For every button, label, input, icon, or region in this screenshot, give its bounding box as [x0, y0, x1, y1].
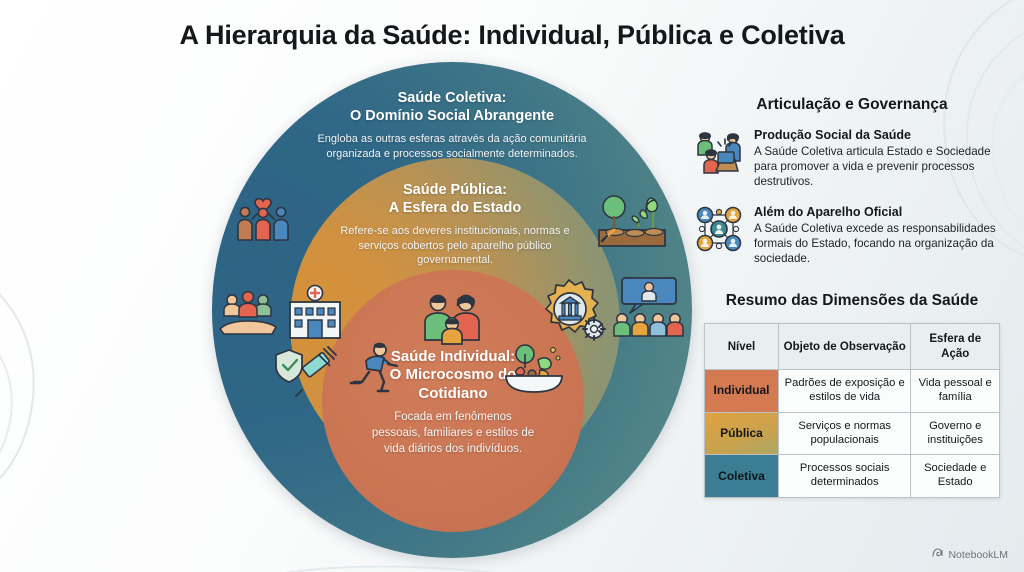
row-object-coletiva: Processos sociais determinados	[779, 455, 911, 498]
hand-holding-people-icon	[218, 284, 280, 345]
network-of-people-icon	[694, 204, 744, 254]
column-header-esfera: Esfera de Ação	[911, 324, 1000, 370]
ring-individual-title-line2: O Microcosmo do Cotidiano	[390, 366, 517, 401]
row-sphere-individual: Vida pessoal e família	[911, 369, 1000, 412]
governance-item-description: A Saúde Coletiva excede as responsabilid…	[754, 221, 1010, 266]
ring-public-description: Refere-se aos deveres institucionais, no…	[320, 224, 590, 267]
family-icon	[417, 290, 487, 357]
row-sphere-coletiva: Sociedade e Estado	[911, 455, 1000, 498]
ring-public-title-line1: Saúde Pública:	[403, 182, 507, 198]
ring-public-title-line2: A Esfera do Estado	[389, 200, 521, 216]
table-header-row: Nível Objeto de Observação Esfera de Açã…	[705, 324, 1000, 370]
summary-table-heading: Resumo das Dimensões da Saúde	[694, 292, 1010, 310]
vaccine-syringe-shield-icon	[272, 344, 342, 405]
right-panel: Articulação e Governança Produção Social…	[694, 96, 1010, 498]
row-object-individual: Padrões de exposição e estilos de vida	[779, 369, 911, 412]
page-title: A Hierarquia da Saúde: Individual, Públi…	[0, 20, 1024, 51]
running-person-icon	[347, 339, 403, 406]
summary-table: Nível Objeto de Observação Esfera de Açã…	[704, 323, 1000, 498]
row-level-publica: Pública	[705, 412, 779, 455]
ring-public-title: Saúde Pública: A Esfera do Estado	[389, 182, 521, 217]
ring-collective-description: Engloba as outras esferas através da açã…	[302, 132, 602, 161]
notebooklm-label: NotebookLM	[948, 549, 1008, 561]
table-row: Coletiva Processos sociais determinados …	[705, 455, 1000, 498]
venn-diagram: Saúde Coletiva: O Domínio Social Abrange…	[212, 62, 692, 558]
tree-planting-icon	[595, 192, 669, 259]
ring-collective-title: Saúde Coletiva: O Domínio Social Abrange…	[350, 90, 554, 125]
column-header-nivel: Nível	[705, 324, 779, 370]
notebooklm-logo-icon	[932, 547, 944, 562]
notebooklm-watermark: NotebookLM	[932, 547, 1008, 562]
governance-item[interactable]: Além do Aparelho Oficial A Saúde Coletiv…	[694, 204, 1010, 266]
governance-item-title: Além do Aparelho Oficial	[754, 205, 1010, 219]
column-header-objeto: Objeto de Observação	[779, 324, 911, 370]
governance-item-title: Produção Social da Saúde	[754, 128, 1010, 142]
hospital-building-icon	[284, 284, 346, 349]
row-sphere-publica: Governo e instituições	[911, 412, 1000, 455]
table-row: Individual Padrões de exposição e estilo…	[705, 369, 1000, 412]
people-holding-hands-heart-icon	[234, 192, 292, 253]
table-row: Pública Serviços e normas populacionais …	[705, 412, 1000, 455]
decorative-swirl-left	[0, 250, 140, 510]
ring-individual-description: Focada em fenômenos pessoais, familiares…	[369, 410, 537, 458]
governance-item-description: A Saúde Coletiva articula Estado e Socie…	[754, 144, 1010, 189]
community-presentation-icon	[612, 274, 684, 345]
people-collaborating-icon	[694, 127, 744, 177]
governance-item[interactable]: Produção Social da Saúde A Saúde Coletiv…	[694, 127, 1010, 189]
row-object-publica: Serviços e normas populacionais	[779, 412, 911, 455]
government-seal-gear-icon	[540, 278, 610, 351]
ring-collective-title-line2: O Domínio Social Abrangente	[350, 108, 554, 124]
ring-collective-title-line1: Saúde Coletiva:	[398, 90, 507, 106]
row-level-coletiva: Coletiva	[705, 455, 779, 498]
row-level-individual: Individual	[705, 369, 779, 412]
governance-heading: Articulação e Governança	[694, 96, 1010, 114]
